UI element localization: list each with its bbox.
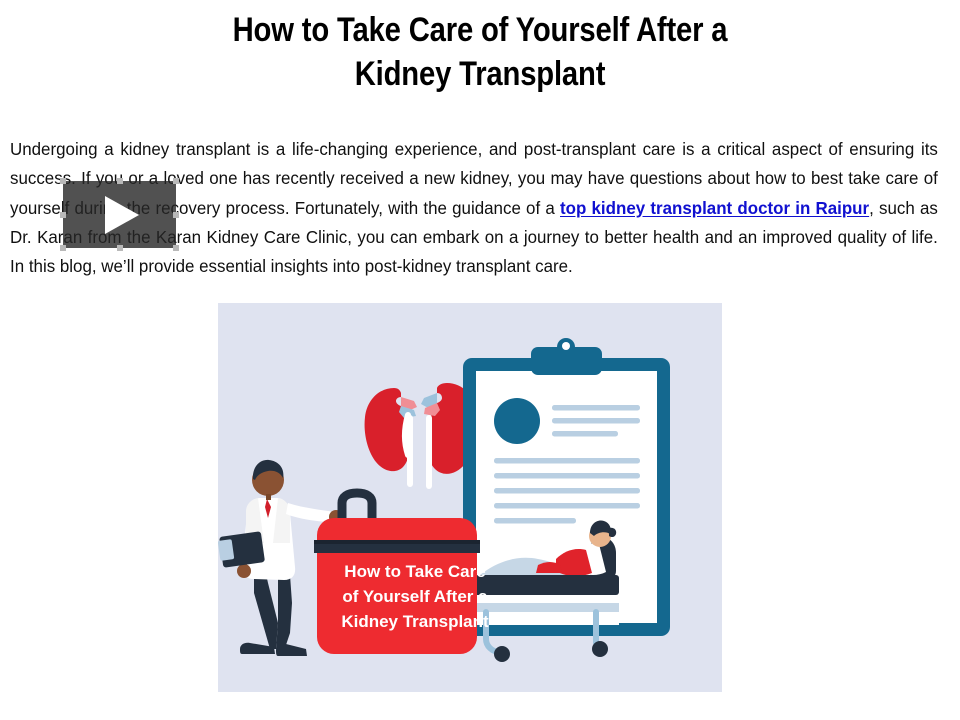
- resize-handle-top-center[interactable]: [117, 178, 123, 184]
- illustration-graphic: [218, 303, 722, 692]
- resize-handle-right-center[interactable]: [173, 212, 179, 218]
- resize-handle-bottom-right[interactable]: [173, 245, 179, 251]
- title-line-1: How to Take Care of Yourself After a: [67, 8, 893, 52]
- resize-handle-top-right[interactable]: [173, 178, 179, 184]
- play-triangle-icon[interactable]: [105, 196, 139, 234]
- video-play-overlay[interactable]: [63, 181, 176, 248]
- kidney-transplant-care-illustration: How to Take Care of Yourself After a Kid…: [218, 303, 722, 692]
- resize-handle-bottom-left[interactable]: [60, 245, 66, 251]
- resize-handle-top-left[interactable]: [60, 178, 66, 184]
- page-title: How to Take Care of Yourself After a Kid…: [67, 8, 893, 96]
- kidney-transplant-doctor-link[interactable]: top kidney transplant doctor in Raipur: [560, 198, 869, 218]
- slide-canvas: How to Take Care of Yourself After a Kid…: [0, 0, 960, 720]
- resize-handle-bottom-center[interactable]: [117, 245, 123, 251]
- resize-handle-left-center[interactable]: [60, 212, 66, 218]
- title-line-2: Kidney Transplant: [67, 52, 893, 96]
